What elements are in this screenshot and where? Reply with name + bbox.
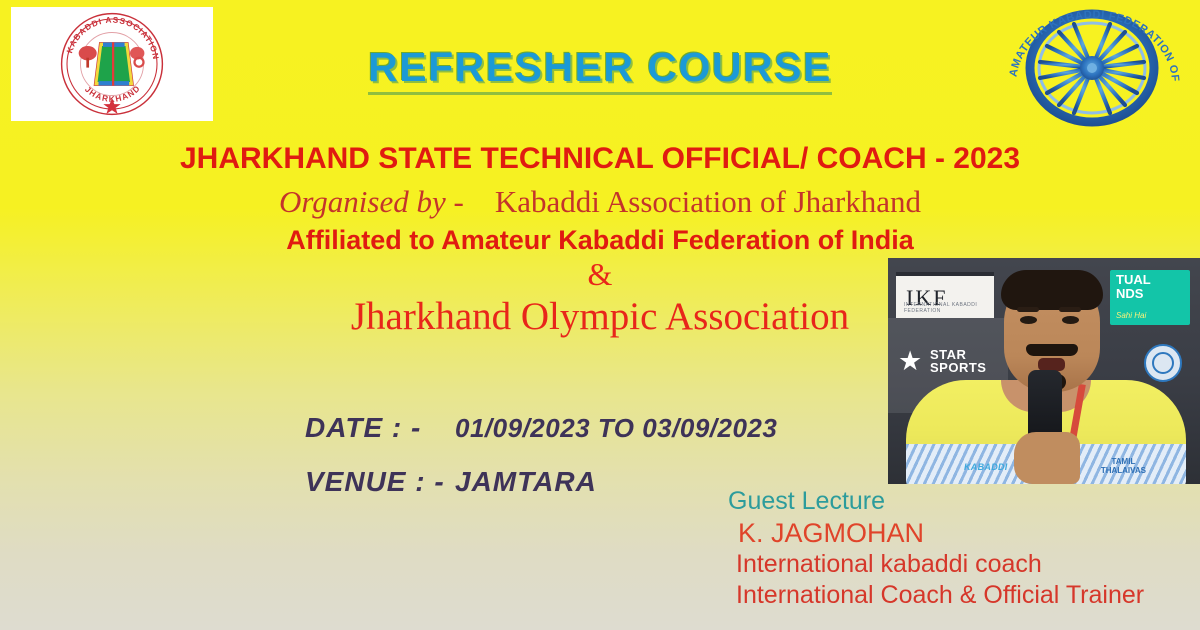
backdrop-ikf-logo-subtext: INTERNATIONAL KABADDI FEDERATION [904,302,994,314]
event-details: DATE : - 01/09/2023 TO 03/09/2023 VENUE … [305,412,777,520]
guest-lecturer-role-primary: International kabaddi coach [736,549,1144,580]
poster-canvas: KABADDI ASSOCIATION OF JHARKHAND [0,0,1200,630]
lecturer-eyebrow-left [1017,307,1039,312]
lecturer-eye-right [1062,316,1079,324]
guest-lecturer-name: K. JAGMOHAN [738,517,1144,550]
organiser-name: Kabaddi Association of Jharkhand [495,184,921,219]
jersey-team-line1: TAMIL [1111,457,1135,466]
jersey-team-badge: TAMIL THALAIVAS [1101,458,1146,476]
jersey-kabaddi-badge: KABADDI [964,462,1008,472]
venue-row: VENUE : - JAMTARA [305,466,777,498]
date-value: 01/09/2023 TO 03/09/2023 [455,413,777,444]
page-title-text: REFRESHER COURSE [368,44,832,95]
guest-lecturer-role-secondary: International Coach & Official Trainer [736,580,1144,611]
backdrop-sponsor-tagline: Sahi Hai [1116,311,1146,320]
lecturer-eyebrow-right [1059,307,1081,312]
backdrop-ikf-logo: IKF INTERNATIONAL KABADDI FEDERATION [896,272,994,318]
organised-by-label: Organised by - [279,184,464,219]
date-row: DATE : - 01/09/2023 TO 03/09/2023 [305,412,777,444]
backdrop-circular-logo [1144,344,1182,382]
course-title-line: JHARKHAND STATE TECHNICAL OFFICIAL/ COAC… [0,142,1200,176]
page-title: REFRESHER COURSE [0,44,1200,95]
venue-value: JAMTARA [455,466,597,498]
guest-lecturer-photo: IKF INTERNATIONAL KABADDI FEDERATION TUA… [888,258,1200,484]
backdrop-sponsor-line1: TUAL NDS [1116,273,1151,300]
backdrop-sponsor-text2: NDS [1116,286,1143,301]
guest-lecture-heading: Guest Lecture [728,486,1144,517]
guest-lecture-block: Guest Lecture K. JAGMOHAN International … [728,486,1144,610]
lecturer-hand [1014,432,1080,484]
venue-label: VENUE : - [305,466,455,498]
backdrop-sponsor-logo: TUAL NDS Sahi Hai [1110,270,1190,325]
lecturer-moustache [1026,344,1078,356]
jersey-team-line2: THALAIVAS [1101,466,1146,475]
lecturer-hair [1001,270,1103,310]
affiliation-line: Affiliated to Amateur Kabaddi Federation… [0,225,1200,256]
lecturer-eye-left [1020,316,1037,324]
date-label: DATE : - [305,412,455,444]
organised-by-line: Organised by - Kabaddi Association of Jh… [0,184,1200,220]
